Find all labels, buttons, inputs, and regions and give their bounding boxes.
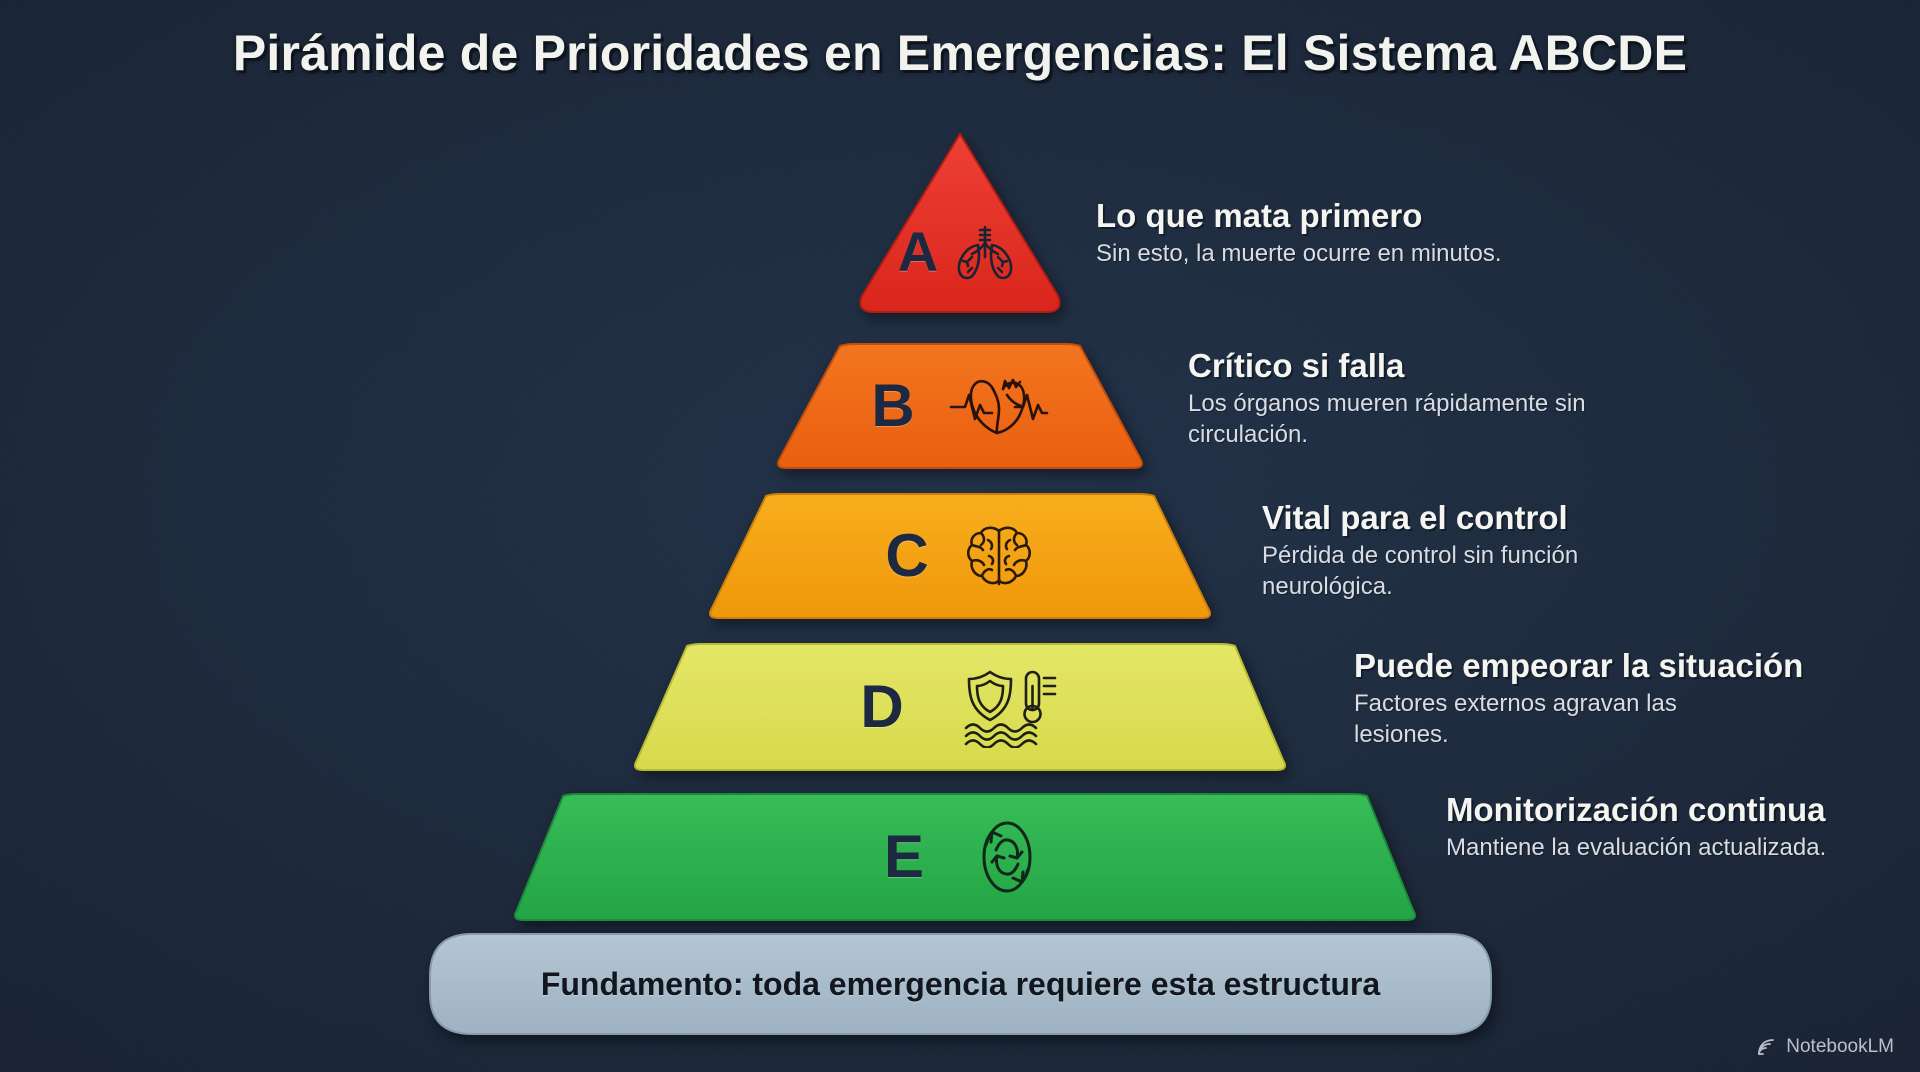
tier-b-letter: B [871,376,914,436]
caption-c-subtext: Pérdida de control sin función neurológi… [1262,541,1682,602]
pyramid-tier-b[interactable]: B [768,342,1152,470]
tier-e-letter: E [884,827,924,887]
caption-tier-d: Puede empeorar la situación Factores ext… [1354,648,1803,750]
tier-a-letter: A [898,224,938,280]
caption-tier-e: Monitorización continua Mantiene la eval… [1446,792,1826,864]
brain-icon [963,520,1035,592]
notebooklm-watermark: NotebookLM [1756,1036,1894,1058]
pyramid-tier-a[interactable]: A [852,128,1068,318]
lungs-icon [948,221,1022,283]
pyramid-tier-c[interactable]: C [700,492,1220,620]
caption-tier-a: Lo que mata primero Sin esto, la muerte … [1096,198,1502,270]
caption-e-heading: Monitorización continua [1446,792,1826,829]
watermark-label: NotebookLM [1786,1036,1894,1058]
shield-thermometer-waves-icon [956,666,1060,748]
tier-d-letter: D [860,677,903,737]
caption-b-subtext: Los órganos mueren rápidamente sin circu… [1188,389,1608,450]
caption-e-subtext: Mantiene la evaluación actualizada. [1446,833,1826,864]
foundation-label: Fundamento: toda emergencia requiere est… [428,966,1493,1003]
caption-tier-c: Vital para el control Pérdida de control… [1262,500,1682,602]
caption-b-heading: Crítico si falla [1188,348,1608,385]
caption-d-subtext: Factores externos agravan las lesiones. [1354,689,1774,750]
pyramid-tier-e[interactable]: E [505,792,1425,922]
heart-ecg-icon [949,371,1049,441]
caption-d-heading: Puede empeorar la situación [1354,648,1803,685]
caption-a-heading: Lo que mata primero [1096,198,1502,235]
refresh-cycle-icon [968,819,1046,895]
caption-tier-b: Crítico si falla Los órganos mueren rápi… [1188,348,1608,450]
notebooklm-spiral-icon [1756,1037,1778,1057]
caption-a-subtext: Sin esto, la muerte ocurre en minutos. [1096,239,1502,270]
pyramid-foundation[interactable]: Fundamento: toda emergencia requiere est… [428,932,1493,1036]
caption-c-heading: Vital para el control [1262,500,1682,537]
tier-c-letter: C [885,526,928,586]
pyramid-tier-d[interactable]: D [625,642,1295,772]
